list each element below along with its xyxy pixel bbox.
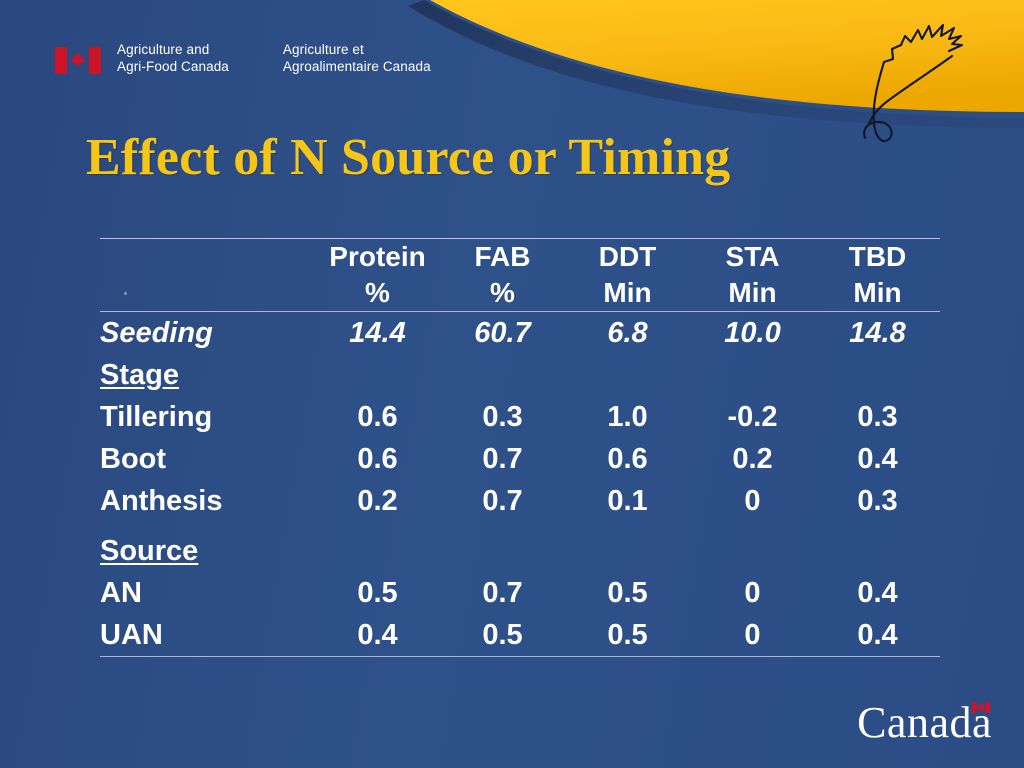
table-bottom-rule <box>100 656 940 657</box>
header-name-protein: Protein <box>329 241 425 272</box>
stylized-maple-leaf-icon <box>864 25 962 141</box>
header-cell-tbd: TBD Min <box>815 239 940 311</box>
signature-english-line2: Agri-Food Canada <box>117 58 229 75</box>
header-unit-tbd: Min <box>815 275 940 311</box>
row-label-boot: Boot <box>100 438 315 480</box>
cell-seeding-sta: 10.0 <box>690 312 815 354</box>
cell-tillering-ddt: 1.0 <box>565 396 690 438</box>
header-name-fab: FAB <box>475 241 531 272</box>
cell-seeding-tbd: 14.8 <box>815 312 940 354</box>
cell-anthesis-tbd: 0.3 <box>815 480 940 522</box>
corner-dot-mark <box>124 292 127 295</box>
table-row: Anthesis 0.2 0.7 0.1 0 0.3 <box>100 480 940 522</box>
cell-seeding-fab: 60.7 <box>440 312 565 354</box>
row-label-an: AN <box>100 572 315 614</box>
table-row: Boot 0.6 0.7 0.6 0.2 0.4 <box>100 438 940 480</box>
results-grid: Protein % FAB % DDT Min STA Min <box>100 239 940 311</box>
signature-french-line2: Agroalimentaire Canada <box>283 58 431 75</box>
cell-an-protein: 0.5 <box>315 572 440 614</box>
section-heading-row-source: Source <box>100 530 940 572</box>
cell-anthesis-ddt: 0.1 <box>565 480 690 522</box>
cell-uan-sta: 0 <box>690 614 815 656</box>
cell-boot-tbd: 0.4 <box>815 438 940 480</box>
results-body-grid: Seeding 14.4 60.7 6.8 10.0 14.8 Stage Ti… <box>100 312 940 656</box>
cell-an-ddt: 0.5 <box>565 572 690 614</box>
cell-tillering-fab: 0.3 <box>440 396 565 438</box>
table-row: AN 0.5 0.7 0.5 0 0.4 <box>100 572 940 614</box>
cell-uan-protein: 0.4 <box>315 614 440 656</box>
row-label-tillering: Tillering <box>100 396 315 438</box>
slide-title: Effect of N Source or Timing <box>86 128 916 188</box>
cell-anthesis-protein: 0.2 <box>315 480 440 522</box>
section-heading-source-cell: Source <box>100 530 940 572</box>
signature-french: Agriculture et Agroalimentaire Canada <box>283 41 431 75</box>
header-unit-fab: % <box>440 275 565 311</box>
cell-seeding-ddt: 6.8 <box>565 312 690 354</box>
cell-an-tbd: 0.4 <box>815 572 940 614</box>
header-unit-protein: % <box>315 275 440 311</box>
header-name-ddt: DDT <box>599 241 657 272</box>
signature-english: Agriculture and Agri-Food Canada <box>117 41 229 75</box>
row-label-seeding: Seeding <box>100 312 315 354</box>
cell-boot-ddt: 0.6 <box>565 438 690 480</box>
cell-anthesis-fab: 0.7 <box>440 480 565 522</box>
maple-leaf-glyph <box>69 51 87 70</box>
cell-tillering-sta: -0.2 <box>690 396 815 438</box>
cell-uan-tbd: 0.4 <box>815 614 940 656</box>
table-row: Tillering 0.6 0.3 1.0 -0.2 0.3 <box>100 396 940 438</box>
signature-english-line1: Agriculture and <box>117 41 229 58</box>
slide-canvas: Agriculture and Agri-Food Canada Agricul… <box>0 0 1024 768</box>
row-spacer <box>100 522 940 530</box>
cell-seeding-protein: 14.4 <box>315 312 440 354</box>
canada-wordmark: Canada <box>857 700 996 746</box>
cell-uan-ddt: 0.5 <box>565 614 690 656</box>
header-corner-cell <box>100 239 315 311</box>
header-unit-ddt: Min <box>565 275 690 311</box>
swoosh-shape <box>430 0 1024 112</box>
cell-boot-fab: 0.7 <box>440 438 565 480</box>
cell-uan-fab: 0.5 <box>440 614 565 656</box>
row-label-anthesis: Anthesis <box>100 480 315 522</box>
cell-an-fab: 0.7 <box>440 572 565 614</box>
header-unit-sta: Min <box>690 275 815 311</box>
section-heading-stage: Stage <box>100 359 179 391</box>
header-cell-fab: FAB % <box>440 239 565 311</box>
swoosh-shadow <box>408 0 1024 128</box>
table-row: UAN 0.4 0.5 0.5 0 0.4 <box>100 614 940 656</box>
cell-an-sta: 0 <box>690 572 815 614</box>
cell-boot-protein: 0.6 <box>315 438 440 480</box>
cell-boot-sta: 0.2 <box>690 438 815 480</box>
section-heading-row-stage: Stage <box>100 354 940 396</box>
header-cell-protein: Protein % <box>315 239 440 311</box>
header-cell-ddt: DDT Min <box>565 239 690 311</box>
cell-tillering-tbd: 0.3 <box>815 396 940 438</box>
section-heading-stage-cell: Stage <box>100 354 940 396</box>
cell-tillering-protein: 0.6 <box>315 396 440 438</box>
table-header-row: Protein % FAB % DDT Min STA Min <box>100 239 940 311</box>
table-row-seeding: Seeding 14.4 60.7 6.8 10.0 14.8 <box>100 312 940 354</box>
section-heading-source: Source <box>100 535 198 567</box>
cell-anthesis-sta: 0 <box>690 480 815 522</box>
header-name-sta: STA <box>726 241 780 272</box>
row-label-uan: UAN <box>100 614 315 656</box>
results-table: Protein % FAB % DDT Min STA Min <box>100 238 940 657</box>
canada-flag-icon <box>55 47 101 74</box>
aafc-signature: Agriculture and Agri-Food Canada Agricul… <box>55 41 431 75</box>
header-name-tbd: TBD <box>849 241 907 272</box>
canada-wordmark-flag-icon <box>972 702 990 713</box>
header-cell-sta: STA Min <box>690 239 815 311</box>
signature-french-line1: Agriculture et <box>283 41 431 58</box>
